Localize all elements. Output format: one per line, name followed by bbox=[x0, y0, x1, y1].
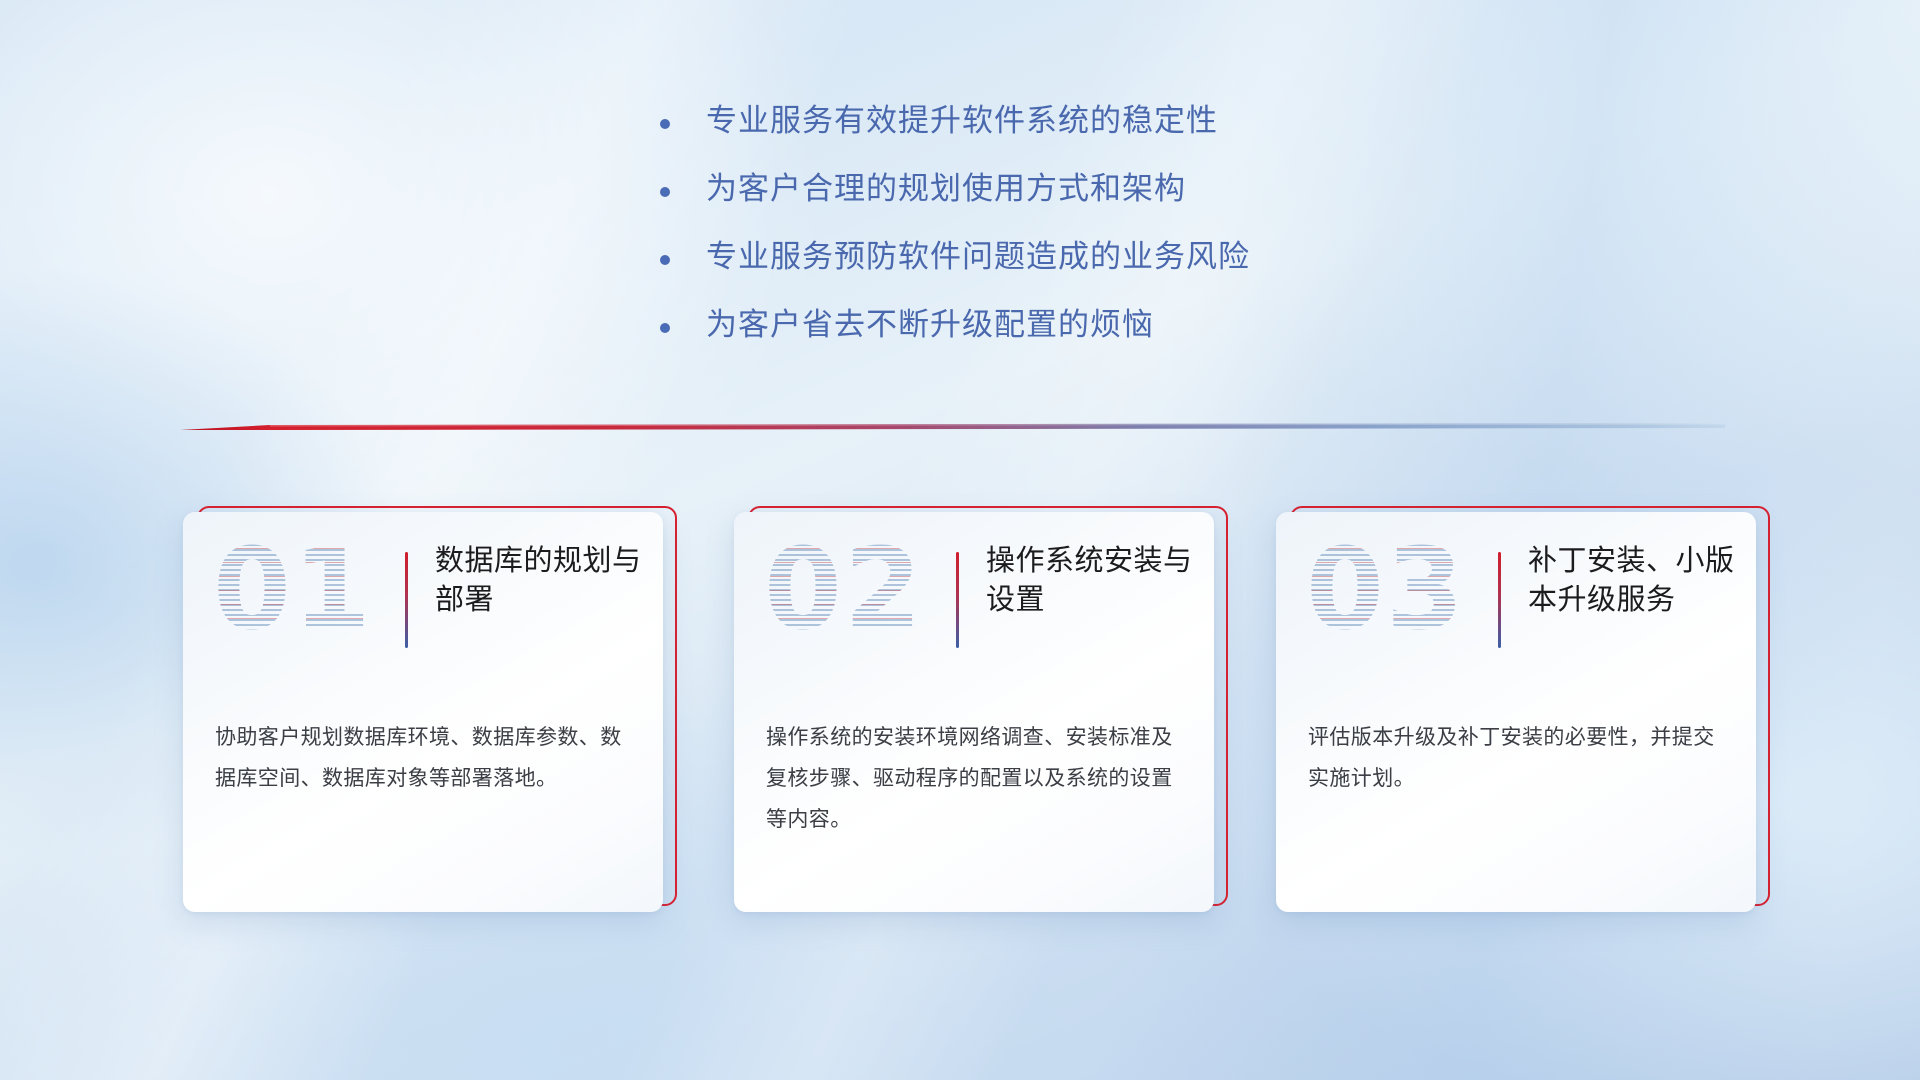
service-card[interactable]: 01 01 数据库的规划与部署 协助客户规划数据库环境、数据库参数、数据库空间、… bbox=[183, 512, 673, 912]
bullet-dot-icon bbox=[660, 187, 670, 197]
card-accent-bar bbox=[956, 552, 959, 648]
card-body: 01 01 数据库的规划与部署 协助客户规划数据库环境、数据库参数、数据库空间、… bbox=[183, 512, 663, 912]
card-number-ghost: 02 bbox=[764, 534, 924, 646]
card-accent-bar bbox=[405, 552, 408, 648]
card-number-ghost: 01 bbox=[213, 534, 373, 646]
section-divider bbox=[180, 418, 1725, 440]
card-header: 03 03 补丁安装、小版本升级服务 bbox=[1276, 512, 1756, 702]
list-item: 为客户合理的规划使用方式和架构 bbox=[660, 168, 1480, 210]
slide-canvas: 专业服务有效提升软件系统的稳定性 为客户合理的规划使用方式和架构 专业服务预防软… bbox=[0, 0, 1920, 1080]
bullet-text: 专业服务预防软件问题造成的业务风险 bbox=[706, 236, 1250, 278]
card-header: 01 01 数据库的规划与部署 bbox=[183, 512, 663, 702]
benefits-bullet-list: 专业服务有效提升软件系统的稳定性 为客户合理的规划使用方式和架构 专业服务预防软… bbox=[660, 100, 1480, 371]
card-accent-bar bbox=[1498, 552, 1501, 648]
bullet-dot-icon bbox=[660, 119, 670, 129]
list-item: 专业服务预防软件问题造成的业务风险 bbox=[660, 236, 1480, 278]
service-card[interactable]: 03 03 补丁安装、小版本升级服务 评估版本升级及补丁安装的必要性，并提交实施… bbox=[1276, 512, 1766, 912]
card-title: 数据库的规划与部署 bbox=[435, 542, 647, 620]
card-title: 补丁安装、小版本升级服务 bbox=[1528, 542, 1740, 620]
service-card[interactable]: 02 02 操作系统安装与设置 操作系统的安装环境网络调查、安装标准及复核步骤、… bbox=[734, 512, 1224, 912]
list-item: 专业服务有效提升软件系统的稳定性 bbox=[660, 100, 1480, 142]
bullet-dot-icon bbox=[660, 323, 670, 333]
bullet-text: 为客户合理的规划使用方式和架构 bbox=[706, 168, 1186, 210]
card-description: 协助客户规划数据库环境、数据库参数、数据库空间、数据库对象等部署落地。 bbox=[215, 718, 633, 800]
card-body: 02 02 操作系统安装与设置 操作系统的安装环境网络调查、安装标准及复核步骤、… bbox=[734, 512, 1214, 912]
bullet-dot-icon bbox=[660, 255, 670, 265]
card-description: 操作系统的安装环境网络调查、安装标准及复核步骤、驱动程序的配置以及系统的设置等内… bbox=[766, 718, 1184, 841]
list-item: 为客户省去不断升级配置的烦恼 bbox=[660, 304, 1480, 346]
card-number-ghost: 03 bbox=[1306, 534, 1466, 646]
bullet-text: 为客户省去不断升级配置的烦恼 bbox=[706, 304, 1154, 346]
card-description: 评估版本升级及补丁安装的必要性，并提交实施计划。 bbox=[1308, 718, 1726, 800]
card-body: 03 03 补丁安装、小版本升级服务 评估版本升级及补丁安装的必要性，并提交实施… bbox=[1276, 512, 1756, 912]
service-card-row: 01 01 数据库的规划与部署 协助客户规划数据库环境、数据库参数、数据库空间、… bbox=[0, 512, 1920, 924]
bullet-text: 专业服务有效提升软件系统的稳定性 bbox=[706, 100, 1218, 142]
divider-shape-icon bbox=[180, 418, 1725, 440]
card-title: 操作系统安装与设置 bbox=[986, 542, 1198, 620]
card-header: 02 02 操作系统安装与设置 bbox=[734, 512, 1214, 702]
